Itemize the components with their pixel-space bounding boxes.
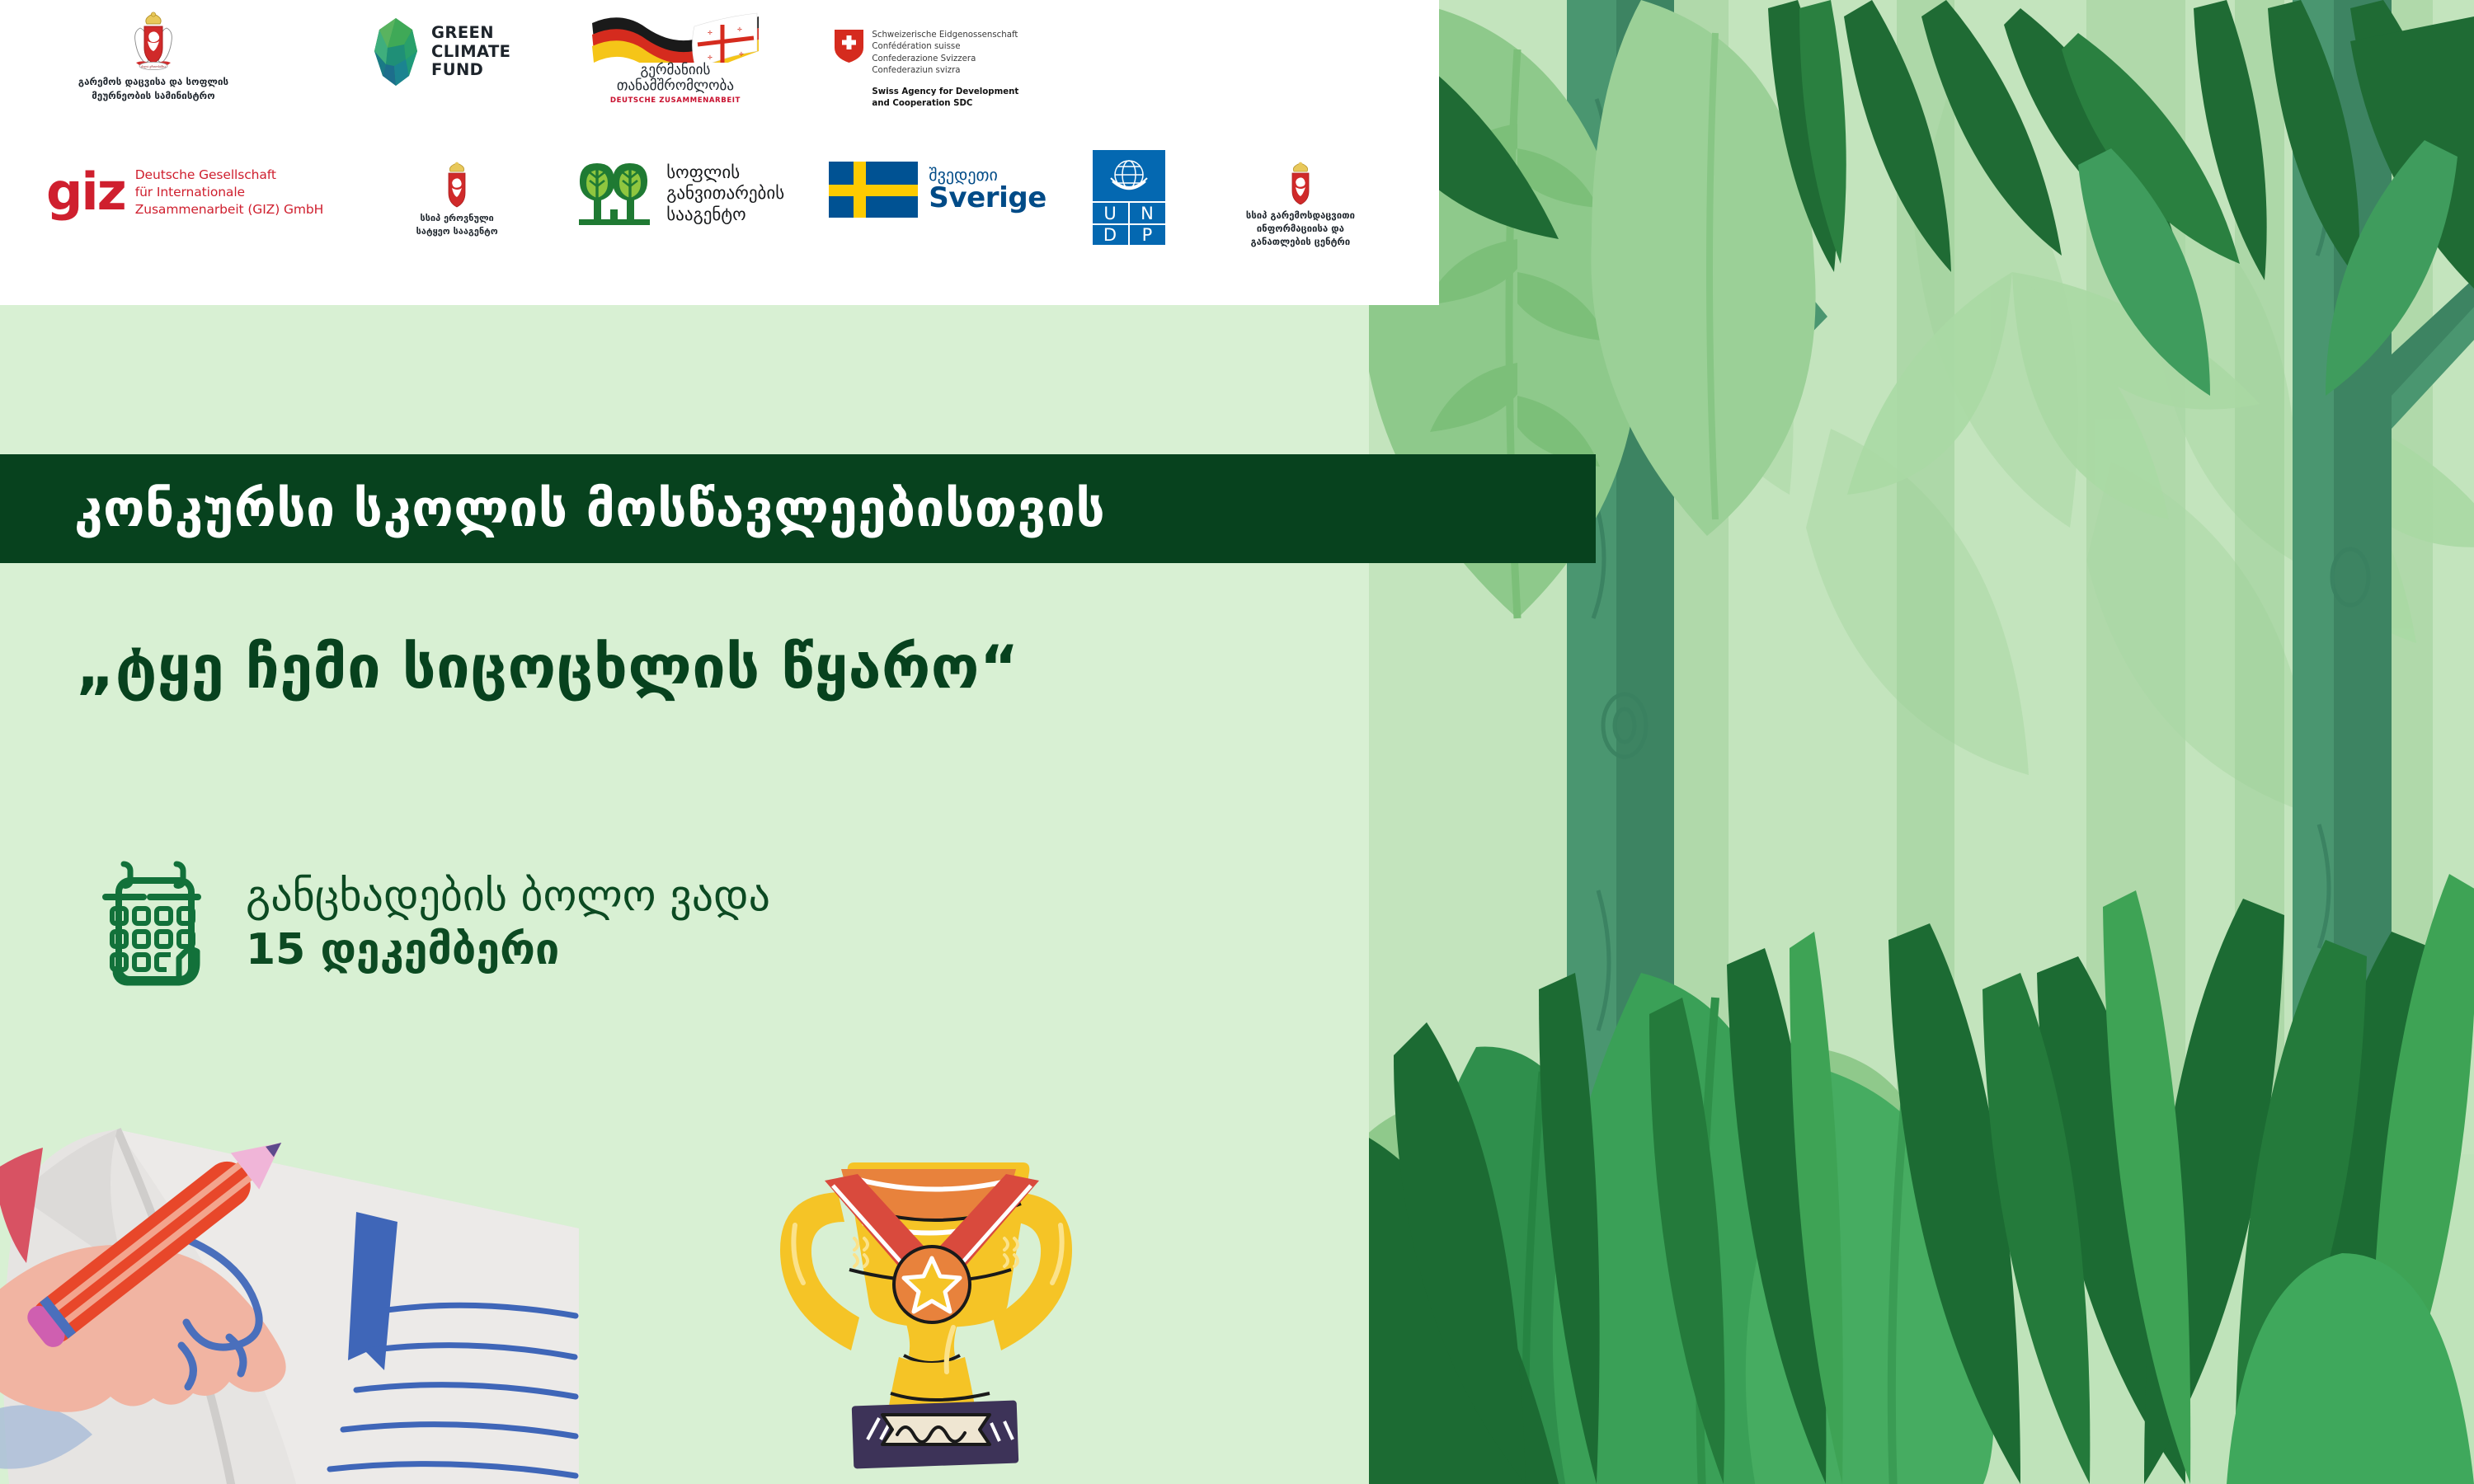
logo-national-forestry-agency: სსიპ ეროვნული სატყეო სააგენტო — [374, 162, 539, 237]
svg-text:✛: ✛ — [708, 30, 713, 36]
logo-swiss-sdc: Schweizerische Eidgenossenschaft Confédé… — [835, 30, 1018, 109]
giz-wordmark: giz — [46, 171, 125, 213]
title-banner: კონკურსი სკოლის მოსწავლეებისთვის — [0, 454, 1596, 563]
logo-environmental-information-centre: სსიპ გარემოსდაცვითი ინფორმაციისა და განა… — [1202, 162, 1399, 250]
gcf-gem-icon — [369, 16, 422, 87]
sweden-flag-icon — [829, 162, 918, 218]
svg-text:U: U — [1103, 204, 1116, 223]
deadline-label: განცხადების ბოლო ვადა — [246, 870, 770, 923]
deadline-date: 15 დეკემბერი — [246, 923, 770, 977]
gold-trophy-illustration — [767, 1146, 1113, 1484]
undp-emblem-icon: UN DP — [1093, 150, 1165, 245]
giz-label: Deutsche Gesellschaft für Internationale… — [135, 167, 323, 218]
svg-text:✛: ✛ — [739, 51, 744, 58]
deadline-text: განცხადების ბოლო ვადა 15 დეკემბერი — [246, 870, 770, 977]
logo-rural-development-agency: სოფლის განვითარების სააგენტო — [574, 162, 784, 226]
svg-text:✛: ✛ — [737, 26, 742, 33]
swiss-sdc-label: Schweizerische Eidgenossenschaft Confédé… — [872, 30, 1018, 109]
logo-green-climate-fund: GREEN CLIMATE FUND — [369, 16, 510, 87]
logo-row-1: ძალა ერთობაშია გარემოს დაცვისა და სოფლის… — [46, 12, 1018, 109]
logo-giz: giz Deutsche Gesellschaft für Internatio… — [46, 167, 323, 218]
svg-text:D: D — [1103, 225, 1117, 245]
svg-text:N: N — [1141, 204, 1154, 223]
deadline-block: განცხადების ბოლო ვადა 15 დეკემბერი — [91, 857, 770, 989]
environmental-centre-label: სსიპ გარემოსდაცვითი ინფორმაციისა და განა… — [1246, 209, 1355, 250]
german-cooperation-subline: DEUTSCHE ZUSAMMENARBEIT — [610, 96, 741, 105]
svg-text:✛: ✛ — [708, 54, 713, 61]
forestry-agency-label: სსიპ ეროვნული სატყეო სააგენტო — [416, 212, 498, 237]
logo-ministry-label: გარემოს დაცვისა და სოფლის მეურნეობის სამ… — [78, 75, 228, 102]
sweden-label: შვედეთი Sverige — [929, 167, 1047, 214]
logo-ministry-of-environment: ძალა ერთობაშია გარემოს დაცვისა და სოფლის… — [46, 12, 261, 102]
georgia-coat-of-arms-icon — [1284, 162, 1317, 204]
swiss-shield-icon — [835, 30, 863, 63]
contest-subtitle: „ტყე ჩემი სიცოცხლის წყარო“ — [76, 635, 1560, 700]
calendar-icon — [91, 857, 213, 989]
logo-undp: UN DP — [1093, 150, 1165, 245]
georgia-coat-of-arms-icon: ძალა ერთობაშია — [129, 12, 177, 71]
german-georgian-flag-ribbon-icon: ✛✛ ✛✛ — [589, 12, 762, 63]
poster-stage: ძალა ერთობაშია გარემოს დაცვისა და სოფლის… — [0, 0, 2474, 1484]
logo-german-cooperation: ✛✛ ✛✛ გერმანიის თანამშრომლობა DEUTSCHE Z… — [586, 12, 764, 105]
german-cooperation-label-line1: გერმანიის — [640, 63, 710, 78]
logo-sweden: შვედეთი Sverige — [829, 162, 1047, 218]
svg-text:ძალა ერთობაშია: ძალა ერთობაშია — [141, 65, 166, 68]
gcf-label: GREEN CLIMATE FUND — [431, 24, 510, 80]
partner-logos-header: ძალა ერთობაშია გარემოს დაცვისა და სოფლის… — [0, 0, 1439, 305]
german-cooperation-label-line2: თანამშრომლობა — [617, 78, 734, 94]
page-title: კონკურსი სკოლის მოსწავლეებისთვის — [74, 483, 1105, 534]
two-trees-house-icon — [574, 162, 655, 226]
hand-writing-in-notebook-illustration — [0, 1047, 587, 1484]
rural-development-agency-label: სოფლის განვითარების სააგენტო — [666, 162, 784, 225]
logo-row-2: giz Deutsche Gesellschaft für Internatio… — [46, 162, 1399, 250]
georgia-coat-of-arms-icon — [439, 162, 475, 208]
forest-illustration — [1369, 0, 2474, 1484]
svg-text:P: P — [1142, 225, 1153, 245]
